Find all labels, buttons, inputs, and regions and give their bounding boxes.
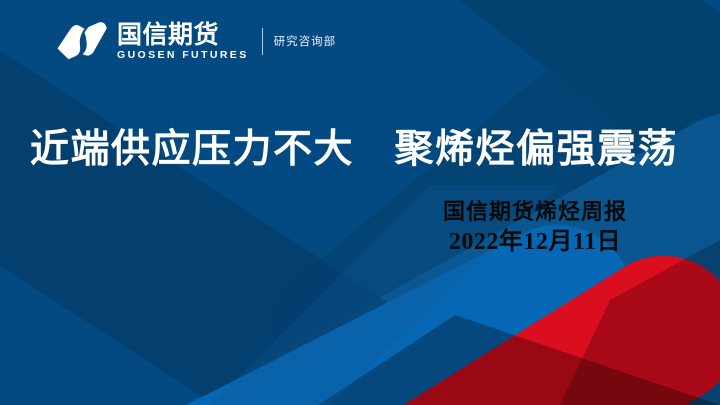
department-name: 研究咨询部 — [274, 33, 337, 49]
title-slide: 国信期货 GUOSEN FUTURES 研究咨询部 近端供应压力不大 聚烯烃偏强… — [0, 0, 720, 405]
brand-name-en: GUOSEN FUTURES — [117, 49, 249, 61]
report-name: 国信期货烯烃周报 — [443, 198, 627, 226]
vertical-divider — [262, 28, 263, 55]
logo-lockup: 国信期货 GUOSEN FUTURES 研究咨询部 — [56, 17, 336, 65]
guosen-folded-pages-logo-icon — [56, 20, 108, 62]
page-title: 近端供应压力不大 聚烯烃偏强震荡 — [30, 126, 690, 174]
brand-name-cn: 国信期货 — [117, 22, 249, 48]
report-meta-block: 国信期货烯烃周报 2022年12月11日 — [443, 198, 627, 257]
logo-wordmark: 国信期货 GUOSEN FUTURES — [117, 22, 249, 61]
report-date: 2022年12月11日 — [443, 227, 627, 257]
